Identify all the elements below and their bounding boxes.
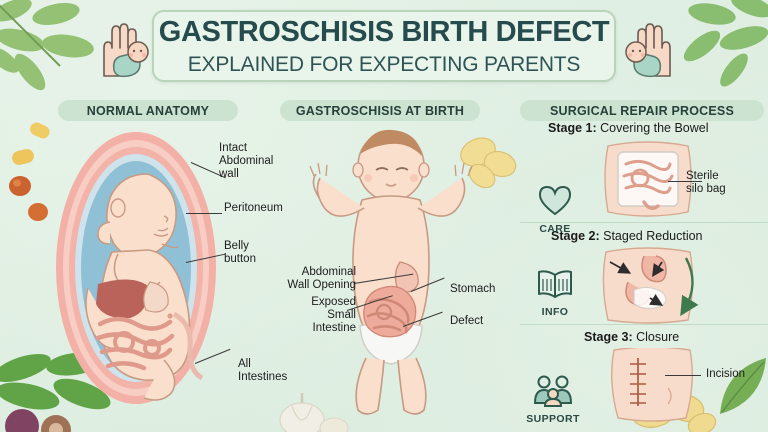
green-leaves-decoration	[672, 0, 768, 102]
green-leaves-decoration	[0, 0, 100, 114]
label-sterile-silo-bag: Sterile silo bag	[686, 170, 726, 196]
side-icon-support-label: SUPPORT	[526, 413, 580, 425]
side-icon-care[interactable]: CARE	[524, 185, 586, 237]
family-group-icon	[522, 375, 584, 409]
stage-1-number: Stage 1:	[548, 121, 597, 135]
label-peritoneum: Peritoneum	[224, 202, 283, 215]
stage-3-title: Stage 3: Closure	[584, 330, 679, 344]
hand-holding-baby-icon	[620, 18, 686, 80]
label-incision: Incision	[706, 368, 745, 381]
divider	[520, 222, 768, 223]
stage-3-name: Closure	[636, 330, 679, 344]
column-header-gastroschisis-at-birth: GASTROSCHISIS AT BIRTH	[280, 100, 480, 121]
fetus-in-womb-illustration	[52, 126, 220, 408]
label-all-intestines: All Intestines	[238, 358, 287, 384]
infographic-canvas: GASTROSCHISIS BIRTH DEFECT EXPLAINED FOR…	[0, 0, 768, 432]
leader-line	[665, 375, 701, 376]
open-book-icon	[524, 268, 586, 302]
leader-line	[186, 213, 222, 214]
side-icon-support[interactable]: SUPPORT	[522, 375, 584, 427]
hand-holding-baby-icon	[88, 18, 154, 80]
page-title: GASTROSCHISIS BIRTH DEFECT	[159, 18, 609, 47]
stage-1-title: Stage 1: Covering the Bowel	[548, 121, 709, 135]
heart-icon	[524, 185, 586, 219]
divider	[520, 324, 768, 325]
stage-1-name: Covering the Bowel	[600, 121, 708, 135]
column-header-normal-anatomy: NORMAL ANATOMY	[58, 100, 238, 121]
staged-reduction-illustration	[588, 246, 708, 326]
label-exposed-small-intestine: Exposed Small Intestine	[266, 296, 356, 335]
label-belly-button: Belly button	[224, 240, 256, 266]
stage-3-number: Stage 3:	[584, 330, 633, 344]
silo-bag-over-bowel-illustration	[596, 140, 700, 218]
page-subtitle: EXPLAINED FOR EXPECTING PARENTS	[188, 54, 581, 75]
side-icon-care-label: CARE	[539, 223, 570, 235]
green-leaf-decoration	[716, 356, 768, 418]
stage-2-name: Staged Reduction	[603, 229, 702, 243]
sutured-abdomen-illustration	[598, 348, 706, 422]
label-abdominal-wall-opening: Abdominal Wall Opening	[266, 266, 356, 292]
label-stomach: Stomach	[450, 283, 495, 296]
column-header-surgical-repair-process: SURGICAL REPAIR PROCESS	[520, 100, 764, 121]
label-defect: Defect	[450, 315, 483, 328]
side-icon-info[interactable]: INFO	[524, 268, 586, 320]
side-icon-info-label: INFO	[542, 306, 569, 318]
title-banner: GASTROSCHISIS BIRTH DEFECT EXPLAINED FOR…	[152, 10, 616, 82]
label-intact-abdominal-wall: Intact Abdominal wall	[219, 142, 273, 181]
